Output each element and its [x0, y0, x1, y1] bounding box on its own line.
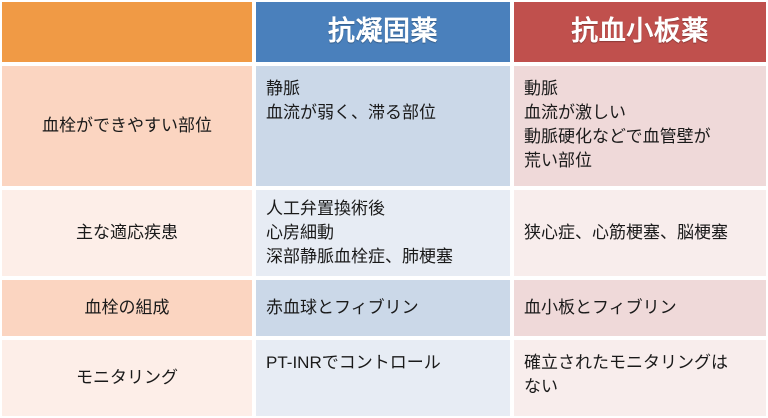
header-cell-anticoagulant: 抗凝固薬 [254, 0, 512, 64]
row-label-cell: 主な適応疾患 [0, 188, 254, 278]
cell-anticoagulant: 静脈 血流が弱く、滞る部位 [254, 64, 512, 188]
row-label-cell: 血栓の組成 [0, 278, 254, 338]
drug-comparison-table: 抗凝固薬 抗血小板薬 血栓ができやすい部位 静脈 血流が弱く、滞る部位 動脈 血… [0, 0, 768, 418]
cell-anticoagulant: PT-INRでコントロール [254, 338, 512, 418]
cell-anticoagulant-text: 人工弁置換術後 心房細動 深部静脈血栓症、肺梗塞 [256, 197, 510, 269]
cell-anticoagulant-text: 静脈 血流が弱く、滞る部位 [256, 66, 510, 125]
cell-antiplatelet: 確立されたモニタリングは ない [512, 338, 768, 418]
row-label-text: 血栓ができやすい部位 [2, 114, 252, 138]
row-label-text: 血栓の組成 [2, 296, 252, 320]
table-row: 血栓ができやすい部位 静脈 血流が弱く、滞る部位 動脈 血流が激しい 動脈硬化な… [0, 64, 768, 188]
cell-anticoagulant: 人工弁置換術後 心房細動 深部静脈血栓症、肺梗塞 [254, 188, 512, 278]
row-label-text: 主な適応疾患 [2, 221, 252, 245]
cell-antiplatelet-text: 狭心症、心筋梗塞、脳梗塞 [514, 221, 766, 245]
table-header-row: 抗凝固薬 抗血小板薬 [0, 0, 768, 64]
table-row: 主な適応疾患 人工弁置換術後 心房細動 深部静脈血栓症、肺梗塞 狭心症、心筋梗塞… [0, 188, 768, 278]
cell-anticoagulant: 赤血球とフィブリン [254, 278, 512, 338]
cell-antiplatelet-text: 血小板とフィブリン [514, 296, 766, 320]
row-label-cell: 血栓ができやすい部位 [0, 64, 254, 188]
header-label-antiplatelet: 抗血小板薬 [514, 17, 766, 47]
row-label-text: モニタリング [2, 366, 252, 390]
cell-antiplatelet: 血小板とフィブリン [512, 278, 768, 338]
header-cell-antiplatelet: 抗血小板薬 [512, 0, 768, 64]
cell-antiplatelet-text: 確立されたモニタリングは ない [514, 340, 766, 399]
table-row: 血栓の組成 赤血球とフィブリン 血小板とフィブリン [0, 278, 768, 338]
cell-anticoagulant-text: PT-INRでコントロール [256, 340, 510, 375]
cell-antiplatelet-text: 動脈 血流が激しい 動脈硬化などで血管壁が 荒い部位 [514, 66, 766, 174]
cell-antiplatelet: 狭心症、心筋梗塞、脳梗塞 [512, 188, 768, 278]
row-label-cell: モニタリング [0, 338, 254, 418]
table-row: モニタリング PT-INRでコントロール 確立されたモニタリングは ない [0, 338, 768, 418]
header-label-anticoagulant: 抗凝固薬 [256, 17, 510, 47]
header-corner-cell [0, 0, 254, 64]
cell-anticoagulant-text: 赤血球とフィブリン [256, 296, 510, 320]
cell-antiplatelet: 動脈 血流が激しい 動脈硬化などで血管壁が 荒い部位 [512, 64, 768, 188]
